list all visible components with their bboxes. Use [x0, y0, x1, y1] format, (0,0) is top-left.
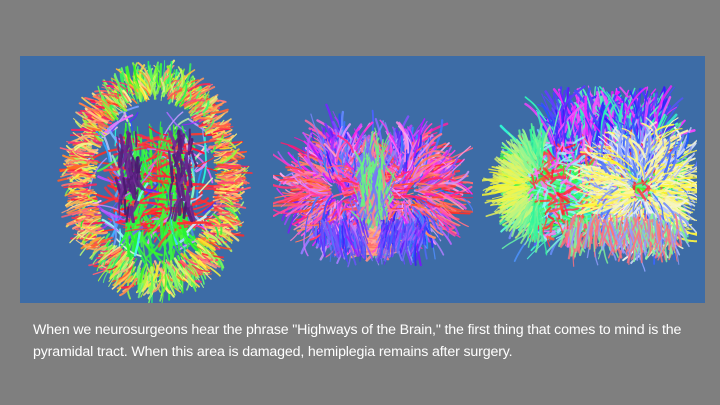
slide-canvas: When we neurosurgeons hear the phrase "H… — [0, 0, 720, 405]
brain-sagittal-view — [482, 56, 697, 303]
caption-text: When we neurosurgeons hear the phrase "H… — [33, 320, 683, 363]
brain-sagittal-svg — [482, 56, 697, 303]
brain-coronal-view — [273, 56, 473, 303]
brain-axial-svg — [48, 56, 263, 303]
brain-coronal-svg — [273, 56, 473, 303]
brain-axial-view — [48, 56, 263, 303]
dti-tractography-figure — [20, 56, 705, 303]
